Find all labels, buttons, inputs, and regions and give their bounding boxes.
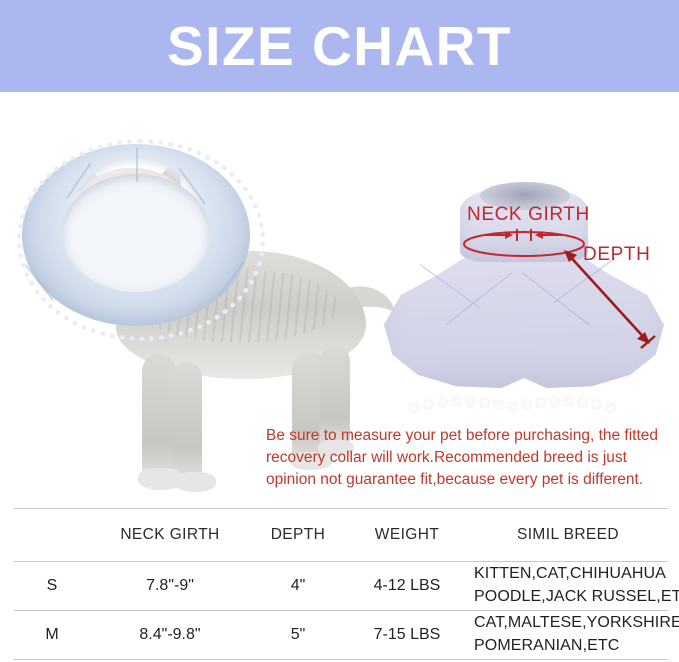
collar-seam bbox=[136, 148, 138, 182]
table-row: S 7.8"-9" 4" 4-12 LBS KITTEN,CAT,CHIHUAH… bbox=[14, 562, 668, 611]
collar-pompom-edge bbox=[376, 400, 672, 414]
cat-front-leg-right bbox=[172, 362, 202, 484]
collar-inner-opening bbox=[62, 174, 210, 292]
breed-line: KITTEN,CAT,CHIHUAHUA bbox=[474, 563, 668, 586]
cat-front-leg-left bbox=[142, 354, 176, 482]
table-body: S 7.8"-9" 4" 4-12 LBS KITTEN,CAT,CHIHUAH… bbox=[14, 562, 668, 660]
breed-line: CAT,MALTESE,YORKSHIRE TERRIER bbox=[474, 612, 668, 635]
cell-weight-m: 7-15 LBS bbox=[346, 611, 468, 660]
warning-line-1: Be sure to measure your pet before purch… bbox=[266, 425, 666, 447]
table-header: NECK GIRTH DEPTH WEIGHT SIMIL BREED bbox=[14, 509, 668, 562]
breed-line: POMERANIAN,ETC bbox=[474, 635, 668, 658]
table-header-row: NECK GIRTH DEPTH WEIGHT SIMIL BREED bbox=[14, 509, 668, 562]
column-header-size bbox=[14, 509, 90, 562]
warning-line-2: recovery collar will work.Recommended br… bbox=[266, 447, 666, 469]
cell-neck-girth-s: 7.8"-9" bbox=[90, 562, 250, 611]
cell-size-s: S bbox=[14, 562, 90, 611]
cell-size-m: M bbox=[14, 611, 90, 660]
breed-line: POODLE,JACK RUSSEL,ETC bbox=[474, 586, 668, 609]
cell-breed-s: KITTEN,CAT,CHIHUAHUA POODLE,JACK RUSSEL,… bbox=[468, 562, 668, 611]
worn-recovery-collar bbox=[22, 144, 250, 326]
cell-breed-m: CAT,MALTESE,YORKSHIRE TERRIER POMERANIAN… bbox=[468, 611, 668, 660]
warning-line-3: opinion not guarantee fit,because every … bbox=[266, 469, 666, 491]
collar-neck-opening bbox=[480, 182, 570, 210]
column-header-depth: DEPTH bbox=[250, 509, 346, 562]
cell-weight-s: 4-12 LBS bbox=[346, 562, 468, 611]
size-chart-header: SIZE CHART bbox=[0, 0, 679, 92]
page-title: SIZE CHART bbox=[167, 19, 512, 74]
cell-depth-s: 4" bbox=[250, 562, 346, 611]
cat-paw-front-right bbox=[174, 472, 216, 492]
collar-product-diagram bbox=[376, 152, 672, 414]
cell-depth-m: 5" bbox=[250, 611, 346, 660]
measurement-warning-note: Be sure to measure your pet before purch… bbox=[266, 425, 666, 491]
hero-section: NECK GIRTH DEPTH Be sure to measure your… bbox=[0, 92, 679, 504]
column-header-weight: WEIGHT bbox=[346, 509, 468, 562]
column-header-neck-girth: NECK GIRTH bbox=[90, 509, 250, 562]
column-header-simil-breed: SIMIL BREED bbox=[468, 509, 668, 562]
cell-neck-girth-m: 8.4"-9.8" bbox=[90, 611, 250, 660]
size-chart-table: NECK GIRTH DEPTH WEIGHT SIMIL BREED S 7.… bbox=[14, 508, 668, 660]
table-row: M 8.4"-9.8" 5" 7-15 LBS CAT,MALTESE,YORK… bbox=[14, 611, 668, 660]
